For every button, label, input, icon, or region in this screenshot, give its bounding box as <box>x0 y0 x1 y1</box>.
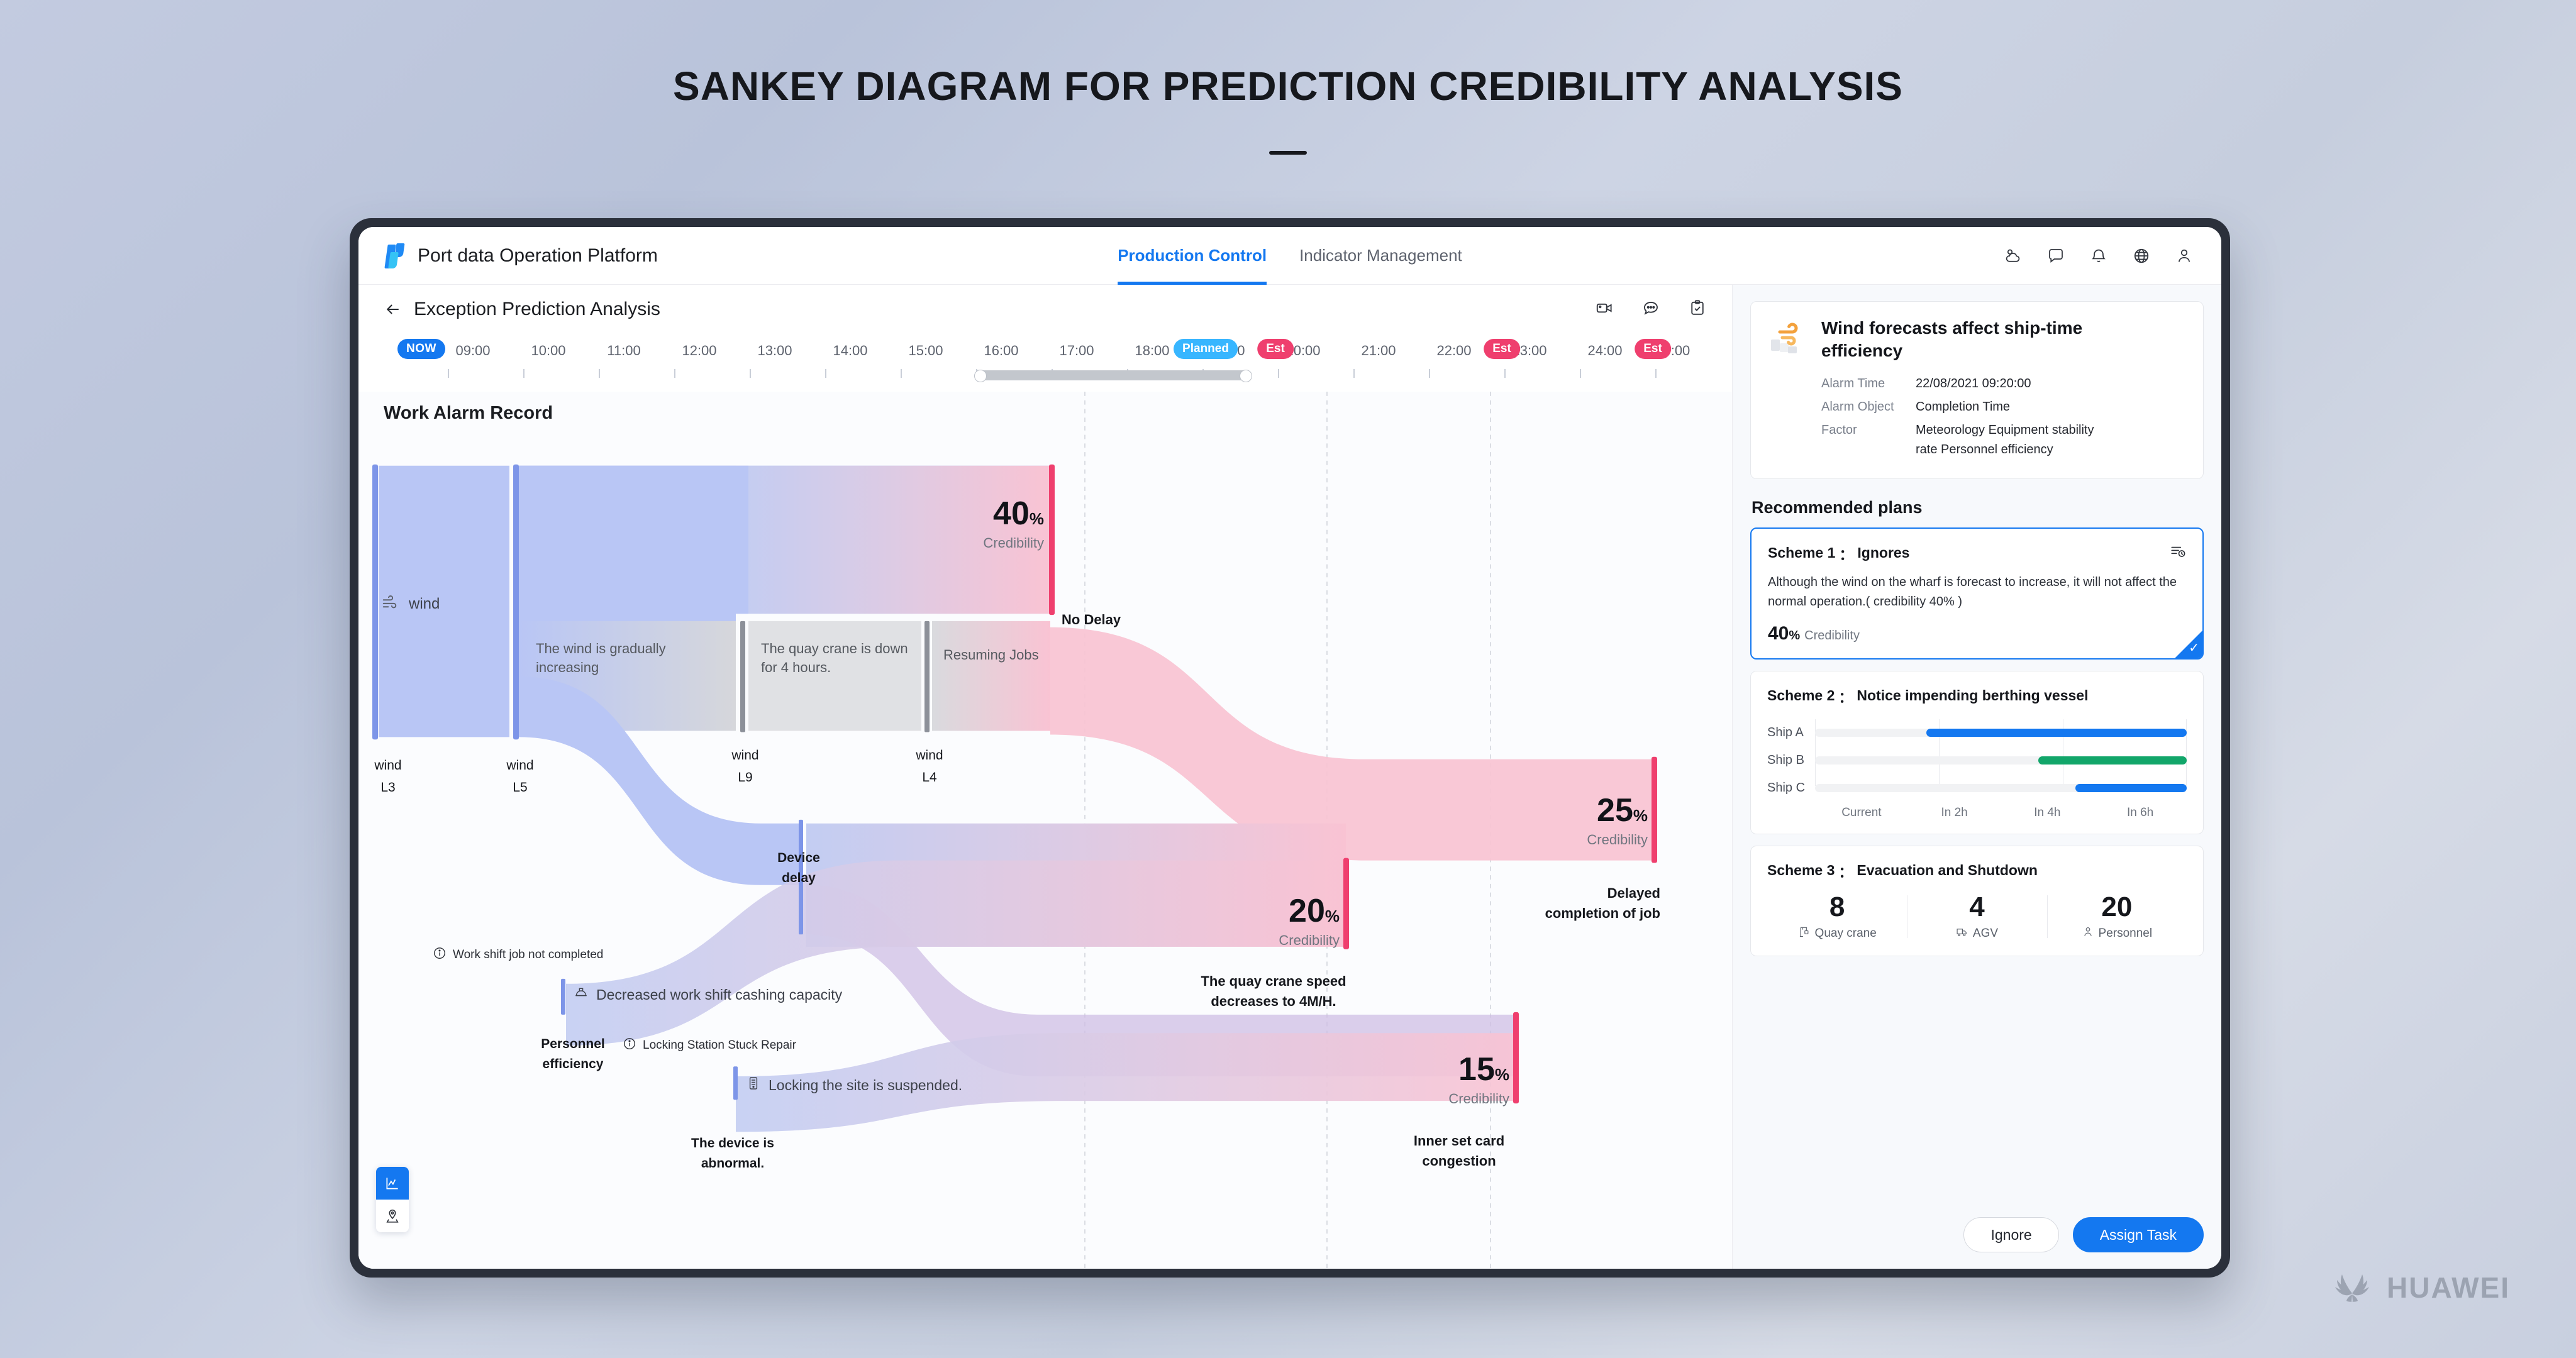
helmet-icon <box>574 985 589 1004</box>
x-tick-label: Current <box>1815 806 1908 820</box>
sankey-node-wind-l9: wind L9 <box>723 745 767 788</box>
sankey-flow-label-wind-increasing: The wind is gradually increasing <box>536 639 718 676</box>
huawei-wordmark: HUAWEI <box>2387 1271 2510 1305</box>
check-icon: ✓ <box>2189 640 2199 656</box>
node-title: wind <box>366 755 410 777</box>
list-history-icon[interactable] <box>2170 543 2186 563</box>
scheme-1-label: Scheme 1 <box>1768 544 1835 561</box>
node-sub: abnormal. <box>673 1154 792 1174</box>
scheme-2-header: Scheme 2 ： Notice impending berthing ves… <box>1767 685 2187 707</box>
scheme-2-label: Scheme 2 <box>1767 687 1835 704</box>
credibility-25: 25% Credibility <box>1553 794 1648 848</box>
timeline-tick-label: 11:00 <box>607 343 640 359</box>
credibility-20: 20% Credibility <box>1245 895 1340 949</box>
timeline-scrollbar[interactable] <box>975 370 1252 380</box>
poster-divider <box>1269 151 1307 155</box>
stat-value: 8 <box>1767 892 1907 924</box>
scheme-2-separator: ： <box>1838 685 1853 707</box>
stat-personnel: 20 Personnel <box>2047 892 2187 942</box>
sankey-node-label: wind <box>409 595 440 613</box>
berthing-vessel-chart: Ship A Ship B Ship C <box>1767 719 2187 802</box>
alarm-card: Wind forecasts affect ship-time efficien… <box>1750 301 2204 479</box>
credibility-40: 40% Credibility <box>950 497 1044 551</box>
sankey-annotation-chip-1[interactable]: Decreased work shift cashing capacity <box>566 980 856 1009</box>
app-screen: Port data Operation Platform Production … <box>358 227 2221 1269</box>
timeline-tick-label: 17:00 <box>1059 343 1094 359</box>
sankey-node-wind-l3: wind L3 <box>366 755 410 798</box>
annotation-note: Work shift job not completed <box>453 948 603 962</box>
credibility-label: Credibility <box>1245 932 1340 949</box>
alarm-value: Meteorology Equipment stability rate Per… <box>1916 421 2098 460</box>
outcome-sub: completion of job <box>1522 903 1660 924</box>
bar-track <box>1815 784 2187 792</box>
tab-indicator-management[interactable]: Indicator Management <box>1299 227 1462 285</box>
node-title: wind <box>723 745 767 767</box>
scheme-3-header: Scheme 3 ： Evacuation and Shutdown <box>1767 860 2187 881</box>
video-camera-icon[interactable] <box>1595 299 1614 321</box>
alarm-value: Completion Time <box>1916 397 2010 417</box>
outcome-sub: congestion <box>1390 1151 1528 1171</box>
info-icon <box>623 1037 636 1054</box>
sankey-node-personnel-efficiency: Personnel efficiency <box>526 1034 620 1074</box>
globe-icon[interactable] <box>2132 246 2151 265</box>
timeline-marker-est[interactable]: Est <box>1484 339 1520 359</box>
x-tick-label: In 6h <box>2094 806 2187 820</box>
stat-label-row: AGV <box>1907 925 2046 942</box>
scheme-1-name: Ignores <box>1857 544 1909 561</box>
scheme-1-cred-unit: % <box>1789 629 1800 643</box>
wind-icon <box>381 593 400 615</box>
timeline[interactable]: NOW 09:00 10:00 11:00 12:00 13:00 14:00 … <box>358 334 1732 392</box>
scheme-3-separator: ： <box>1838 860 1853 881</box>
credibility-unit: % <box>1495 1065 1509 1084</box>
stat-quay-crane: 8 Quay crane <box>1767 892 1907 942</box>
sankey-annotation-note-2: Locking Station Stuck Repair <box>623 1037 796 1054</box>
sankey-node-wind-l4: wind L4 <box>908 745 952 788</box>
page-title: Exception Prediction Analysis <box>414 299 660 320</box>
credibility-label: Credibility <box>1415 1091 1509 1107</box>
timeline-tick-label: :00 <box>1671 343 1690 359</box>
sankey-node-device-abnormal: The device is abnormal. <box>673 1134 792 1173</box>
sankey-annotation-chip-2[interactable]: Locking the site is suspended. <box>738 1071 976 1100</box>
timeline-tick-label: 16:00 <box>984 343 1018 359</box>
poster-title: SANKEY DIAGRAM FOR PREDICTION CREDIBILIT… <box>0 63 2576 109</box>
timeline-tick-label: 14:00 <box>833 343 867 359</box>
bar-fill <box>2038 756 2187 765</box>
credibility-label: Credibility <box>950 535 1044 551</box>
sankey-node-device-delay: Device delay <box>761 848 836 888</box>
scheme-1-cred-label: Credibility <box>1804 629 1860 643</box>
wind-blocks-icon <box>1767 317 1809 358</box>
bar-row: Ship A <box>1815 719 2187 747</box>
bar-fill <box>2075 784 2187 792</box>
weather-cloud-icon[interactable] <box>2004 246 2023 265</box>
credibility-value: 25 <box>1597 792 1633 829</box>
timeline-tick-label: 12:00 <box>682 343 716 359</box>
analysis-pane: Exception Prediction Analysis NOW 09:00 … <box>358 285 1733 1269</box>
sankey-node-wind-l3-inline: wind <box>381 593 440 615</box>
app-body: Exception Prediction Analysis NOW 09:00 … <box>358 285 2221 1269</box>
credibility-unit: % <box>1030 509 1044 528</box>
app-bar-icons <box>2004 246 2194 265</box>
outcome-title: The quay crane speed <box>1195 971 1352 991</box>
scheme-1-cred-value: 40 <box>1768 623 1789 644</box>
outcome-sub: decreases to 4M/H. <box>1195 991 1352 1012</box>
credibility-value: 20 <box>1289 893 1325 929</box>
side-panel: Wind forecasts affect ship-time efficien… <box>1733 285 2221 1269</box>
tab-production-control[interactable]: Production Control <box>1118 227 1267 285</box>
alarm-key: Alarm Time <box>1821 374 1916 394</box>
bar-category-label: Ship C <box>1767 781 1805 795</box>
bar-category-label: Ship A <box>1767 726 1804 740</box>
stat-agv: 4 AGV <box>1907 892 2046 942</box>
node-sub: L4 <box>908 767 952 789</box>
bar-category-label: Ship B <box>1767 753 1804 768</box>
sankey-outcome-delayed-completion: Delayed completion of job <box>1522 883 1660 924</box>
app-logo-icon <box>386 243 408 268</box>
chart-x-axis: Current In 2h In 4h In 6h <box>1767 806 2187 820</box>
timeline-marker-est[interactable]: Est <box>1257 339 1294 359</box>
credibility-value: 15 <box>1458 1051 1495 1088</box>
bar-track <box>1815 729 2187 737</box>
ignore-button[interactable]: Ignore <box>1963 1217 2058 1252</box>
bar-track <box>1815 756 2187 765</box>
timeline-tick-label: 24:00 <box>1587 343 1622 359</box>
node-sub: delay <box>761 868 836 888</box>
sankey-outcome-no-delay: No Delay <box>1062 612 1121 628</box>
timeline-marker-est[interactable]: Est <box>1635 339 1671 359</box>
scheme-3-stats: 8 Quay crane 4 AGV 20 <box>1767 892 2187 942</box>
timeline-tick-label: 15:00 <box>908 343 943 359</box>
scheme-3-name: Evacuation and Shutdown <box>1857 862 2038 879</box>
sankey-outcome-quay-speed: The quay crane speed decreases to 4M/H. <box>1195 971 1352 1012</box>
alarm-value: 22/08/2021 09:20:00 <box>1916 374 2031 394</box>
stat-label: Quay crane <box>1815 927 1877 941</box>
stat-label: Personnel <box>2099 927 2153 941</box>
outcome-title: Delayed <box>1522 883 1660 903</box>
annotation-note: Locking Station Stuck Repair <box>643 1039 796 1052</box>
bell-icon[interactable] <box>2089 246 2108 265</box>
alarm-key: Alarm Object <box>1821 397 1916 417</box>
chat-icon[interactable] <box>2046 246 2065 265</box>
alarm-row: Factor Meteorology Equipment stability r… <box>1821 421 2187 460</box>
alarm-title: Wind forecasts affect ship-time efficien… <box>1821 317 2092 363</box>
brand-name: Port data Operation Platform <box>418 245 658 267</box>
outcome-title: Inner set card <box>1390 1131 1528 1151</box>
back-arrow-icon[interactable] <box>384 300 402 319</box>
scheme-3-label: Scheme 3 <box>1767 862 1835 879</box>
page-header: Exception Prediction Analysis <box>358 285 1732 334</box>
stat-label: AGV <box>1973 927 1998 941</box>
bar-row: Ship C <box>1815 775 2187 802</box>
timeline-tick-label: 22:00 <box>1436 343 1471 359</box>
trend-chart-icon[interactable] <box>376 1167 409 1200</box>
brand: Port data Operation Platform <box>386 243 658 268</box>
node-sub: L3 <box>366 777 410 799</box>
timeline-now-badge: NOW <box>397 339 445 359</box>
scheme-1-credibility: 40%Credibility <box>1768 623 2186 644</box>
assign-task-button[interactable]: Assign Task <box>2073 1217 2204 1252</box>
annotation-chip-label: Locking the site is suspended. <box>769 1077 962 1094</box>
x-tick-label: In 2h <box>1908 806 2001 820</box>
node-title: wind <box>498 755 542 777</box>
scheme-1-header: Scheme 1 ： Ignores <box>1768 543 2186 564</box>
scheme-card-2[interactable]: Scheme 2 ： Notice impending berthing ves… <box>1750 671 2204 834</box>
scheme-2-name: Notice impending berthing vessel <box>1857 687 2088 704</box>
credibility-label: Credibility <box>1553 832 1648 848</box>
person-icon <box>2082 925 2094 942</box>
agv-truck-icon <box>1956 925 1968 942</box>
crane-icon <box>1798 925 1811 942</box>
node-title: Device <box>761 848 836 868</box>
user-icon[interactable] <box>2175 246 2194 265</box>
credibility-unit: % <box>1633 806 1648 825</box>
scheme-card-1[interactable]: Scheme 1 ： Ignores Although the wind on … <box>1750 527 2204 660</box>
info-icon <box>433 946 447 964</box>
map-pin-icon[interactable] <box>376 1200 409 1232</box>
bar-row: Ship B <box>1815 747 2187 775</box>
server-icon <box>746 1076 761 1095</box>
timeline-axis <box>384 369 1707 388</box>
recommended-plans-heading: Recommended plans <box>1752 498 2204 517</box>
stat-label-row: Quay crane <box>1767 925 1907 942</box>
scheme-1-description: Although the wind on the wharf is foreca… <box>1768 573 2186 612</box>
node-title: The device is <box>673 1134 792 1154</box>
sankey-annotation-note-1: Work shift job not completed <box>433 946 603 964</box>
timeline-tick-label: 18:00 <box>1135 343 1169 359</box>
comment-icon[interactable] <box>1641 299 1660 321</box>
sankey-flow-label-resuming-jobs: Resuming Jobs <box>943 646 1107 665</box>
huawei-watermark: HUAWEI <box>2329 1266 2510 1309</box>
alarm-key: Factor <box>1821 421 1916 460</box>
stat-value: 4 <box>1907 892 2046 924</box>
bar-fill <box>1926 729 2187 737</box>
credibility-value: 40 <box>993 495 1030 532</box>
sankey-outcome-inner-card: Inner set card congestion <box>1390 1131 1528 1171</box>
stat-label-row: Personnel <box>2047 925 2187 942</box>
stat-value: 20 <box>2047 892 2187 924</box>
timeline-tick-label: 09:00 <box>455 343 490 359</box>
timeline-tick-label: 13:00 <box>757 343 792 359</box>
app-top-bar: Port data Operation Platform Production … <box>358 227 2221 285</box>
side-panel-actions: Ignore Assign Task <box>1733 1217 2204 1252</box>
sankey-node-wind-l5: wind L5 <box>498 755 542 798</box>
timeline-labels: NOW 09:00 10:00 11:00 12:00 13:00 14:00 … <box>384 334 1707 365</box>
sankey-diagram: Work Alarm Record <box>358 392 1732 1269</box>
sankey-corner-tools <box>376 1167 409 1232</box>
timeline-tick-label: 10:00 <box>531 343 565 359</box>
scheme-card-3[interactable]: Scheme 3 ： Evacuation and Shutdown 8 Qua… <box>1750 846 2204 957</box>
node-title: Personnel <box>526 1034 620 1054</box>
alarm-details: Alarm Time 22/08/2021 09:20:00 Alarm Obj… <box>1821 374 2187 460</box>
x-tick-label: In 4h <box>2001 806 2094 820</box>
annotation-chip-label: Decreased work shift cashing capacity <box>596 986 842 1003</box>
timeline-marker-planned[interactable]: Planned <box>1174 339 1238 359</box>
node-sub: efficiency <box>526 1054 620 1074</box>
node-sub: L5 <box>498 777 542 799</box>
tablet-frame: Port data Operation Platform Production … <box>350 218 2230 1278</box>
alarm-row: Alarm Time 22/08/2021 09:20:00 <box>1821 374 2187 394</box>
credibility-unit: % <box>1325 907 1340 925</box>
top-nav: Production Control Indicator Management <box>1118 227 1462 285</box>
timeline-tick-label: 21:00 <box>1361 343 1396 359</box>
clipboard-check-icon[interactable] <box>1688 299 1707 321</box>
huawei-flower-icon <box>2329 1266 2375 1309</box>
alarm-row: Alarm Object Completion Time <box>1821 397 2187 417</box>
credibility-15: 15% Credibility <box>1415 1053 1509 1107</box>
page-header-icons <box>1595 299 1707 321</box>
node-title: wind <box>908 745 952 767</box>
sankey-flow-label-quay-crane-down: The quay crane is down for 4 hours. <box>761 639 924 676</box>
scheme-1-separator: ： <box>1839 543 1853 564</box>
node-sub: L9 <box>723 767 767 789</box>
